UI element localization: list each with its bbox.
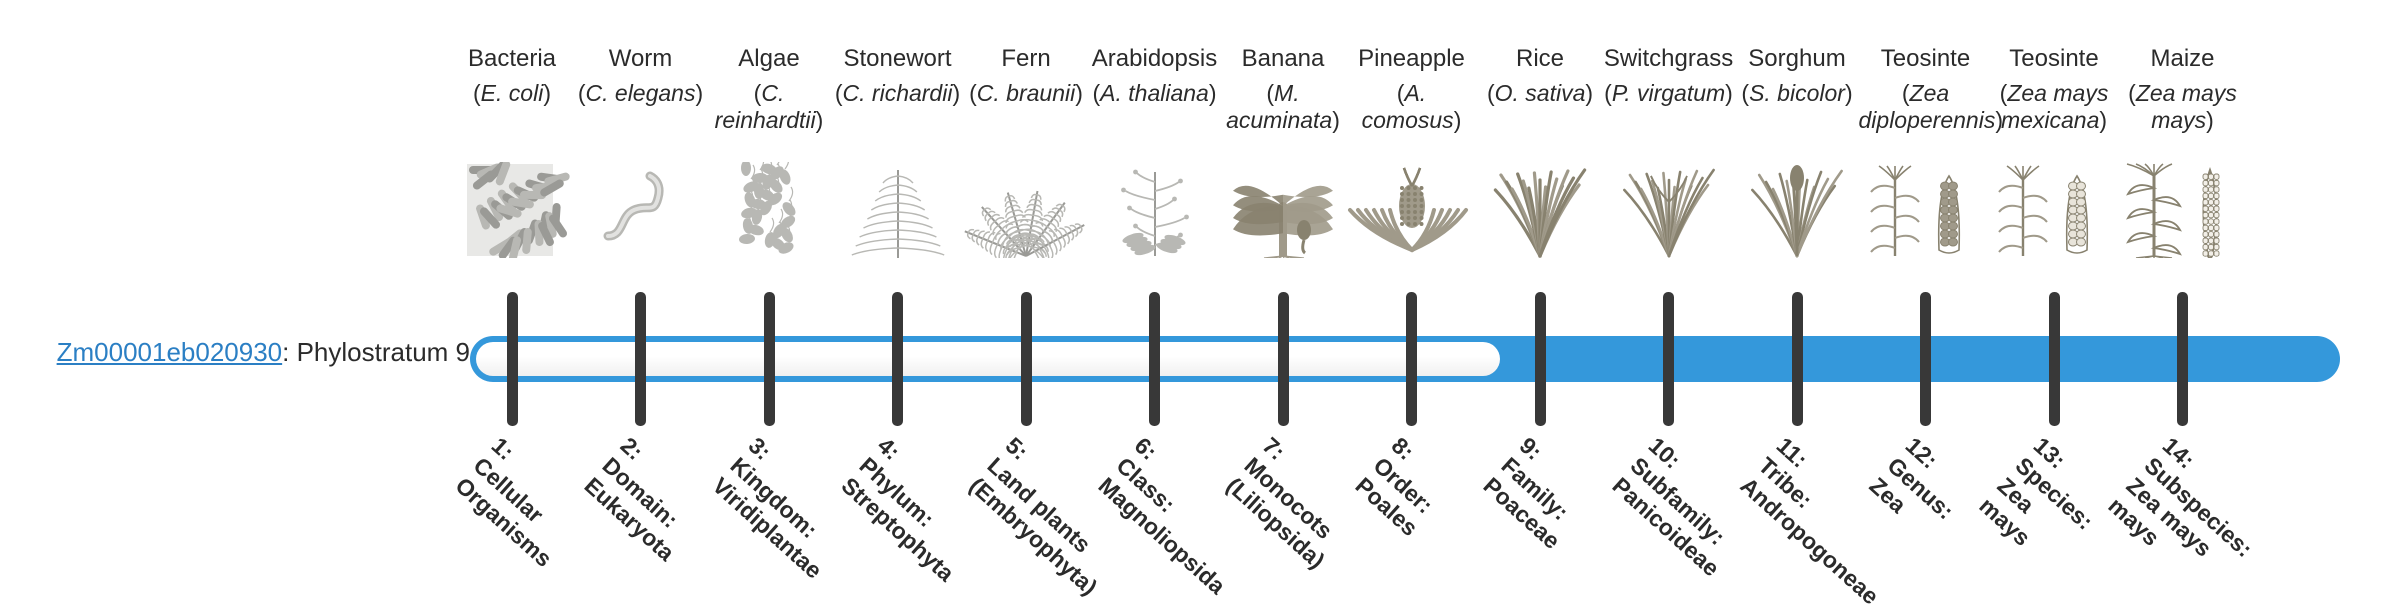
species-latin-text: C. reinhardtii <box>715 80 816 133</box>
species-latin-name: (C. braunii) <box>959 80 1093 134</box>
species-latin-name: (M. acuminata) <box>1216 80 1350 134</box>
species-latin-text: Zea diploperennis <box>1859 80 1996 133</box>
species-column: Pineapple(A. comosus) <box>1345 44 1479 134</box>
species-latin-text: C. braunii <box>977 80 1075 106</box>
species-latin-text: P. virgatum <box>1612 80 1725 106</box>
species-column: Sorghum(S. bicolor) <box>1730 44 1864 134</box>
species-column: Worm(C. elegans) <box>574 44 708 134</box>
stratum-tick[interactable] <box>1406 292 1417 426</box>
species-column: Teosinte(Zea diploperennis) <box>1859 44 1993 134</box>
stratum-label: 13:Species:Zeamays <box>1974 432 2117 576</box>
species-common-name: Switchgrass <box>1602 44 1736 74</box>
species-latin-name: (P. virgatum) <box>1602 80 1736 134</box>
species-latin-name: (S. bicolor) <box>1730 80 1864 134</box>
gene-id-link[interactable]: Zm00001eb020930 <box>57 337 283 367</box>
species-column: Maize(Zea mays mays) <box>2116 44 2250 134</box>
stratum-tick[interactable] <box>1792 292 1803 426</box>
species-latin-name: (A. comosus) <box>1345 80 1479 134</box>
species-latin-name: (O. sativa) <box>1473 80 1607 134</box>
stratum-tick[interactable] <box>1663 292 1674 426</box>
species-latin-text: A. thaliana <box>1100 80 1209 106</box>
stratum-tick[interactable] <box>892 292 903 426</box>
species-latin-text: A. comosus <box>1362 80 1454 133</box>
species-column: Fern(C. braunii) <box>959 44 1093 134</box>
stratum-tick[interactable] <box>2177 292 2188 426</box>
species-latin-text: E. coli <box>481 80 544 106</box>
species-illustration-pineapple <box>1345 162 1479 258</box>
species-common-name: Teosinte <box>1987 44 2121 74</box>
species-latin-text: O. sativa <box>1495 80 1586 106</box>
species-header-row: Bacteria(E. coli)Worm(C. elegans) Algae(… <box>470 44 2340 304</box>
species-latin-text: C. richardii <box>843 80 953 106</box>
species-illustration-maize <box>2116 162 2250 258</box>
stratum-label: 6:Class:Magnoliopsida <box>1092 432 1266 600</box>
gene-label-separator: : <box>282 337 296 367</box>
stratum-tick[interactable] <box>507 292 518 426</box>
stratum-tick[interactable] <box>1021 292 1032 426</box>
stratum-label: 2:Domain:Eukaryota <box>578 432 715 567</box>
stratum-label: 10:Subfamily:Panicoideae <box>1606 432 1760 582</box>
species-common-name: Teosinte <box>1859 44 1993 74</box>
species-common-name: Rice <box>1473 44 1607 74</box>
species-latin-name: (Zea mays mays) <box>2116 80 2250 134</box>
species-illustration-rice <box>1473 162 1607 258</box>
species-latin-text: Zea mays mays <box>2136 80 2237 133</box>
stratum-tick[interactable] <box>1278 292 1289 426</box>
species-latin-text: S. bicolor <box>1749 80 1845 106</box>
species-column: Rice(O. sativa) <box>1473 44 1607 134</box>
species-latin-name: (C. elegans) <box>574 80 708 134</box>
species-illustration-teosinte-mex <box>1987 162 2121 258</box>
species-illustration-arabidopsis <box>1088 162 1222 258</box>
species-common-name: Algae <box>702 44 836 74</box>
species-latin-name: (E. coli) <box>445 80 579 134</box>
species-common-name: Arabidopsis <box>1088 44 1222 74</box>
species-column: Algae(C. reinhardtii) <box>702 44 836 134</box>
species-illustration-sorghum <box>1730 162 1864 258</box>
stratum-tick[interactable] <box>635 292 646 426</box>
species-illustration-stonewort <box>831 162 965 258</box>
species-illustration-algae <box>702 162 836 258</box>
species-illustration-fern <box>959 162 1093 258</box>
species-illustration-bacteria <box>445 162 579 258</box>
stratum-label: 1:CellularOrganisms <box>450 432 593 573</box>
gene-stratum-value: Phylostratum 9 <box>297 337 470 367</box>
species-latin-text: C. elegans <box>586 80 696 106</box>
species-column: Arabidopsis(A. thaliana) <box>1088 44 1222 134</box>
species-column: Banana(M. acuminata) <box>1216 44 1350 134</box>
species-latin-text: Zea mays mexicana <box>2001 80 2108 133</box>
species-common-name: Sorghum <box>1730 44 1864 74</box>
stratum-tick[interactable] <box>764 292 775 426</box>
species-column: Stonewort(C. richardii) <box>831 44 965 134</box>
stratum-label: 4:Phylum:Streptophyta <box>835 432 995 587</box>
species-latin-name: (A. thaliana) <box>1088 80 1222 134</box>
stratum-tick[interactable] <box>1535 292 1546 426</box>
bar-unfilled-region <box>476 342 1500 376</box>
species-common-name: Worm <box>574 44 708 74</box>
stratum-label: 3:Kingdom:Viridiplantae <box>707 432 863 584</box>
species-column: Switchgrass(P. virgatum) <box>1602 44 1736 134</box>
species-common-name: Banana <box>1216 44 1350 74</box>
phylostratum-figure: Zm00001eb020930: Phylostratum 9 Bacteria… <box>0 0 2400 580</box>
species-illustration-worm <box>574 162 708 258</box>
stratum-tick[interactable] <box>1149 292 1160 426</box>
stratum-tick[interactable] <box>2049 292 2060 426</box>
species-common-name: Pineapple <box>1345 44 1479 74</box>
stratum-tick[interactable] <box>1920 292 1931 426</box>
species-common-name: Fern <box>959 44 1093 74</box>
species-illustration-switchgrass <box>1602 162 1736 258</box>
stratum-label: 14:Subspecies:Zea maysmays <box>2102 432 2275 603</box>
gene-stratum-label: Zm00001eb020930: Phylostratum 9 <box>40 337 470 367</box>
species-common-name: Stonewort <box>831 44 965 74</box>
species-illustration-teosinte-diplo <box>1859 162 1993 258</box>
species-common-name: Bacteria <box>445 44 579 74</box>
species-common-name: Maize <box>2116 44 2250 74</box>
species-latin-name: (C. richardii) <box>831 80 965 134</box>
species-latin-name: (Zea diploperennis) <box>1859 80 1993 134</box>
stratum-label: 5:Land plants(Embryophyta) <box>964 432 1139 601</box>
species-latin-name: (Zea mays mexicana) <box>1987 80 2121 134</box>
stratum-label: 9:Family:Poaceae <box>1478 432 1602 555</box>
stratum-label: 8:Order:Poales <box>1349 432 1458 542</box>
species-latin-text: M. acuminata <box>1226 80 1332 133</box>
phylostratum-bar[interactable] <box>470 336 2340 382</box>
species-latin-name: (C. reinhardtii) <box>702 80 836 134</box>
species-column: Teosinte(Zea mays mexicana) <box>1987 44 2121 134</box>
species-column: Bacteria(E. coli) <box>445 44 579 134</box>
species-illustration-banana <box>1216 162 1350 258</box>
